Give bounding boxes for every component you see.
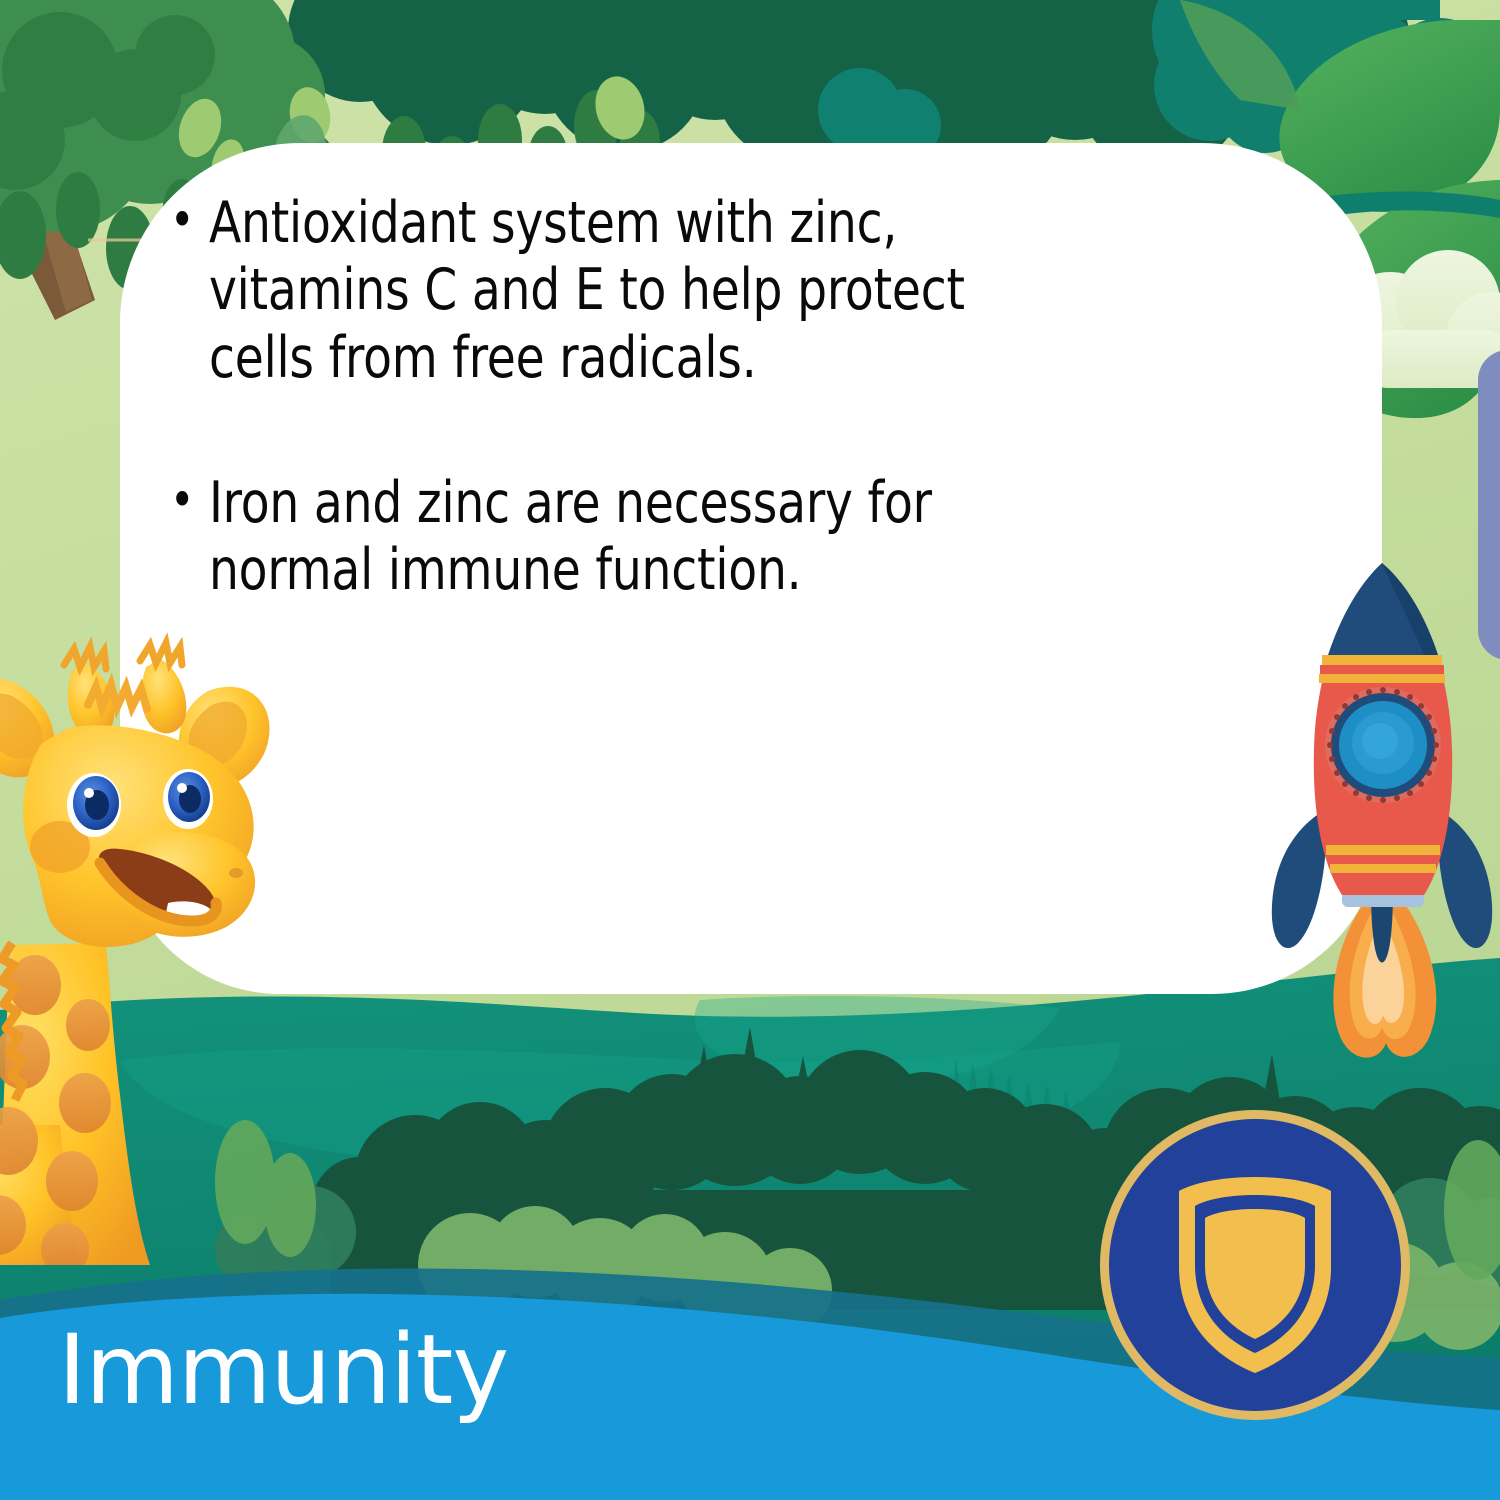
giraffe-eye-left <box>67 773 121 837</box>
bullet-text: Iron and zinc are necessary for normal i… <box>209 470 998 605</box>
rocket-illustration <box>1258 545 1500 1065</box>
bullet-marker: • <box>170 470 194 531</box>
rocket-stripe-gold <box>1322 655 1442 665</box>
rocket-porthole <box>1325 687 1441 803</box>
status-badge <box>1095 1105 1415 1425</box>
giraffe-mascot <box>0 625 300 1265</box>
list-item: • Antioxidant system with zinc, vitamins… <box>170 190 998 392</box>
giraffe-eye-right <box>163 769 213 829</box>
list-item: • Iron and zinc are necessary for normal… <box>170 470 998 605</box>
bullet-spacer <box>170 392 1070 470</box>
giraffe-nostril <box>229 868 243 878</box>
rocket-stripe-gold-lower <box>1326 845 1440 855</box>
bullet-text: Antioxidant system with zinc, vitamins C… <box>209 190 998 392</box>
page-title: Immunity <box>58 1322 508 1418</box>
bullet-marker: • <box>170 190 194 251</box>
rocket-fin-left <box>1272 813 1326 948</box>
bullet-list: • Antioxidant system with zinc, vitamins… <box>170 190 1070 604</box>
slide-canvas: • Antioxidant system with zinc, vitamins… <box>0 0 1500 1500</box>
